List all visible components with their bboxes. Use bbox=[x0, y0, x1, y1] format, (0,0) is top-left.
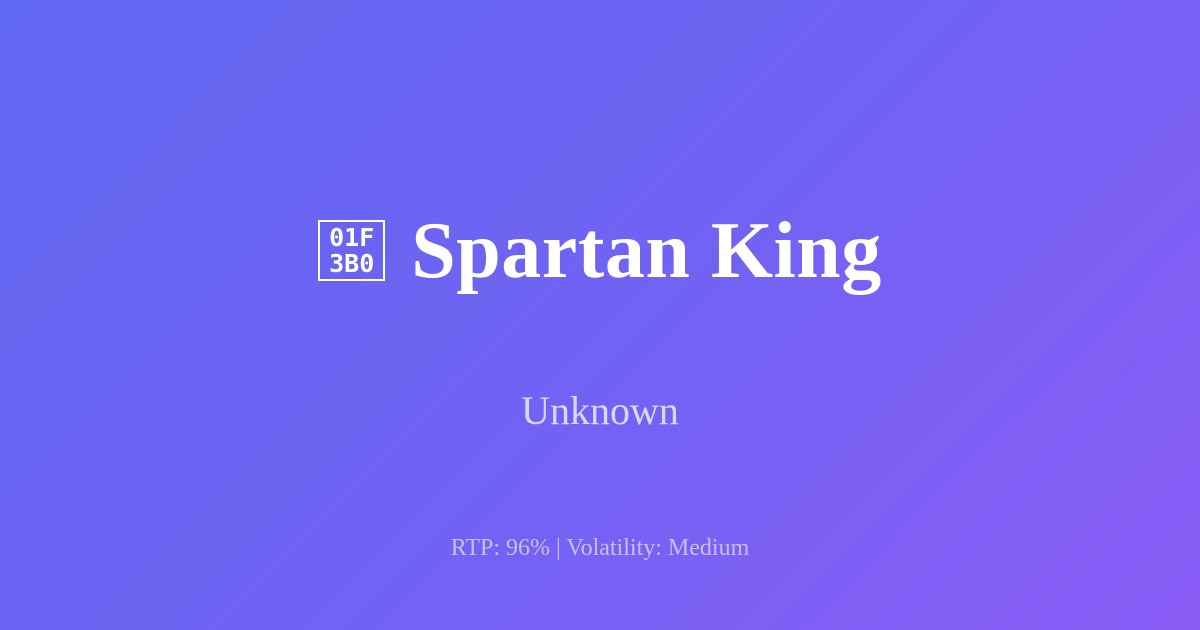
game-preview-card: 01F 3B0 Spartan King Unknown RTP: 96% | … bbox=[0, 0, 1200, 630]
game-stats-footer: RTP: 96% | Volatility: Medium bbox=[0, 536, 1200, 560]
title-row: 01F 3B0 Spartan King bbox=[318, 157, 882, 344]
slot-machine-icon: 01F 3B0 bbox=[318, 220, 385, 281]
game-title: Spartan King bbox=[411, 211, 882, 291]
tofu-hex-line-1: 01F bbox=[329, 225, 374, 251]
tofu-hex-line-2: 3B0 bbox=[329, 251, 374, 277]
game-provider-subtitle: Unknown bbox=[521, 391, 679, 431]
